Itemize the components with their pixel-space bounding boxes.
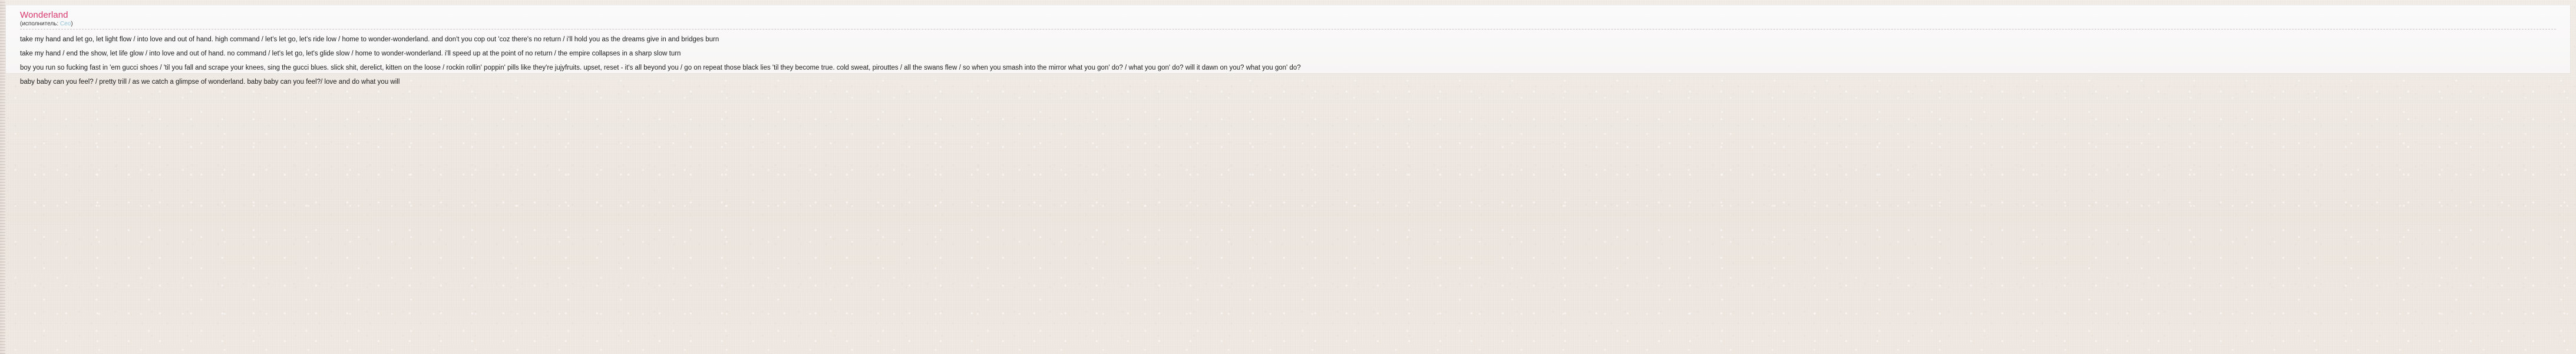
lyrics-card: Wonderland (исполнитель: Ceo) take my ha… [5, 5, 2571, 74]
artist-label: (исполнитель: [20, 21, 58, 27]
artist-paren-close: ) [71, 21, 72, 27]
lyrics-body: take my hand and let go, let light flow … [20, 29, 2570, 89]
song-title: Wonderland [20, 10, 2570, 20]
page-left-edge [0, 0, 5, 354]
artist-attribution: (исполнитель: Ceo) [20, 20, 2570, 29]
lyric-verse: baby baby can you feel? / pretty trill /… [20, 75, 2570, 89]
lyric-verse: take my hand / end the show, let life gl… [20, 47, 2570, 61]
artist-link[interactable]: Ceo [60, 21, 71, 27]
lyric-verse: take my hand and let go, let light flow … [20, 32, 2570, 47]
lyric-verse: boy you run so fucking fast in 'em gucci… [20, 61, 2570, 75]
